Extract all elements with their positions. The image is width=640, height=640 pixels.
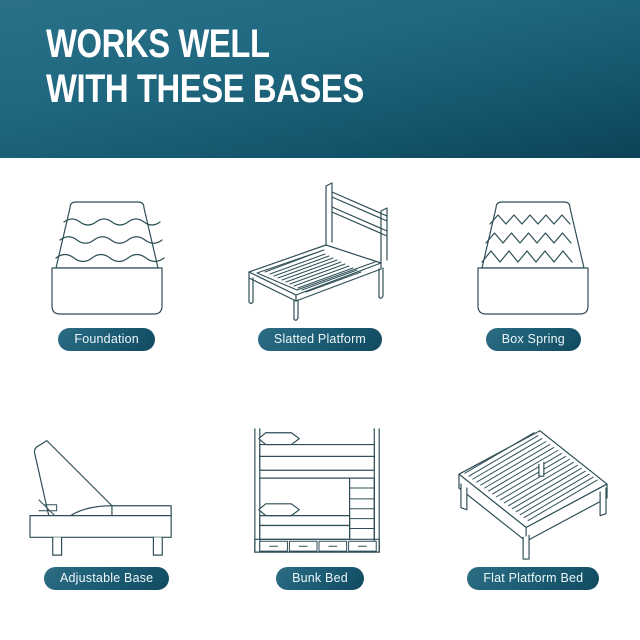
label-bunk-bed: Bunk Bed — [276, 567, 364, 590]
label-box-spring: Box Spring — [486, 328, 581, 351]
grid-item-adjustable-base[interactable]: Adjustable Base — [0, 399, 213, 640]
flat-platform-bed-icon — [438, 413, 628, 563]
bases-grid: Foundation — [0, 158, 640, 640]
bunk-bed-icon — [225, 413, 415, 563]
grid-item-foundation[interactable]: Foundation — [0, 158, 213, 399]
grid-item-bunk-bed[interactable]: Bunk Bed — [213, 399, 426, 640]
header-banner: WORKS WELL WITH THESE BASES — [0, 0, 640, 158]
label-slatted-platform: Slatted Platform — [258, 328, 382, 351]
poster: WORKS WELL WITH THESE BASES Foundation — [0, 0, 640, 640]
box-spring-icon — [438, 172, 628, 324]
label-adjustable-base: Adjustable Base — [44, 567, 169, 590]
label-flat-platform-bed: Flat Platform Bed — [467, 567, 599, 590]
grid-item-flat-platform-bed[interactable]: Flat Platform Bed — [427, 399, 640, 640]
grid-item-slatted-platform[interactable]: Slatted Platform — [213, 158, 426, 399]
grid-item-box-spring[interactable]: Box Spring — [427, 158, 640, 399]
slatted-platform-bed-icon — [225, 172, 415, 324]
foundation-mattress-icon — [12, 172, 202, 324]
adjustable-base-icon — [12, 413, 202, 563]
label-foundation: Foundation — [58, 328, 155, 351]
page-title: WORKS WELL WITH THESE BASES — [46, 22, 505, 112]
